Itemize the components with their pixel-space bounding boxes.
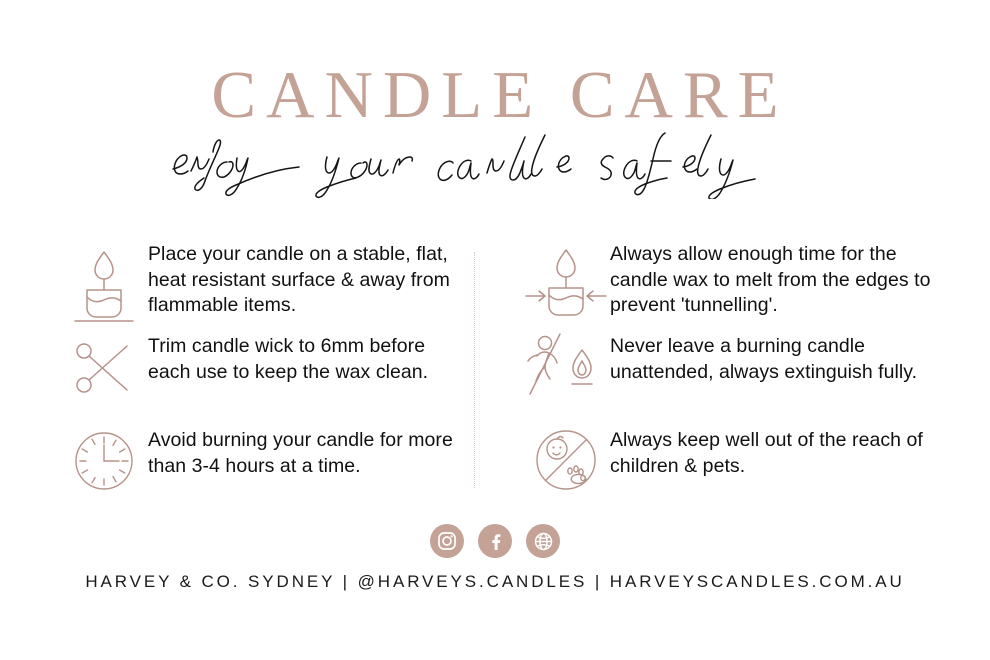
tips-column-right: Always allow enough time for the candle … — [492, 240, 990, 512]
tip-text: Trim candle wick to 6mm before each use … — [148, 332, 470, 385]
instagram-button[interactable] — [430, 524, 464, 558]
person-fire-icon — [524, 334, 608, 400]
tip-item: Always allow enough time for the candle … — [522, 240, 932, 326]
tip-item: Never leave a burning candle unattended,… — [522, 332, 932, 418]
tip-icon-wrapper — [60, 240, 148, 320]
tip-text: Place your candle on a stable, flat, hea… — [148, 240, 470, 319]
tip-icon-wrapper — [60, 332, 148, 398]
footer-contact: HARVEY & CO. SYDNEY | @HARVEYS.CANDLES |… — [0, 572, 990, 592]
facebook-button[interactable] — [478, 524, 512, 558]
tip-text: Always keep well out of the reach of chi… — [610, 426, 932, 479]
scissors-icon — [73, 340, 135, 398]
no-children-pets-icon — [534, 428, 598, 492]
page-title: CANDLE CARE — [0, 62, 990, 129]
candle-care-card: CANDLE CARE — [0, 0, 990, 660]
website-globe-icon — [533, 531, 554, 552]
tip-item: Avoid burning your candle for more than … — [60, 426, 470, 512]
tip-item: Trim candle wick to 6mm before each use … — [60, 332, 470, 418]
subtitle-wrapper — [0, 125, 990, 199]
website-button[interactable] — [526, 524, 560, 558]
subtitle-script — [165, 125, 825, 199]
tip-item: Place your candle on a stable, flat, hea… — [60, 240, 470, 326]
tips-column-left: Place your candle on a stable, flat, hea… — [0, 240, 492, 512]
header: CANDLE CARE — [0, 62, 990, 199]
tip-icon-wrapper — [522, 426, 610, 492]
instagram-icon — [437, 531, 457, 551]
tip-text: Avoid burning your candle for more than … — [148, 426, 470, 479]
tip-icon-wrapper — [60, 426, 148, 492]
facebook-icon — [485, 531, 505, 551]
tip-icon-wrapper — [522, 332, 610, 400]
tip-text: Always allow enough time for the candle … — [610, 240, 932, 319]
candle-melt-icon — [524, 244, 608, 320]
clock-icon — [73, 430, 135, 492]
tips-columns: Place your candle on a stable, flat, hea… — [0, 240, 990, 512]
tip-item: Always keep well out of the reach of chi… — [522, 426, 932, 512]
candle-icon — [69, 244, 139, 320]
social-links — [0, 524, 990, 558]
tip-text: Never leave a burning candle unattended,… — [610, 332, 932, 385]
tip-icon-wrapper — [522, 240, 610, 320]
